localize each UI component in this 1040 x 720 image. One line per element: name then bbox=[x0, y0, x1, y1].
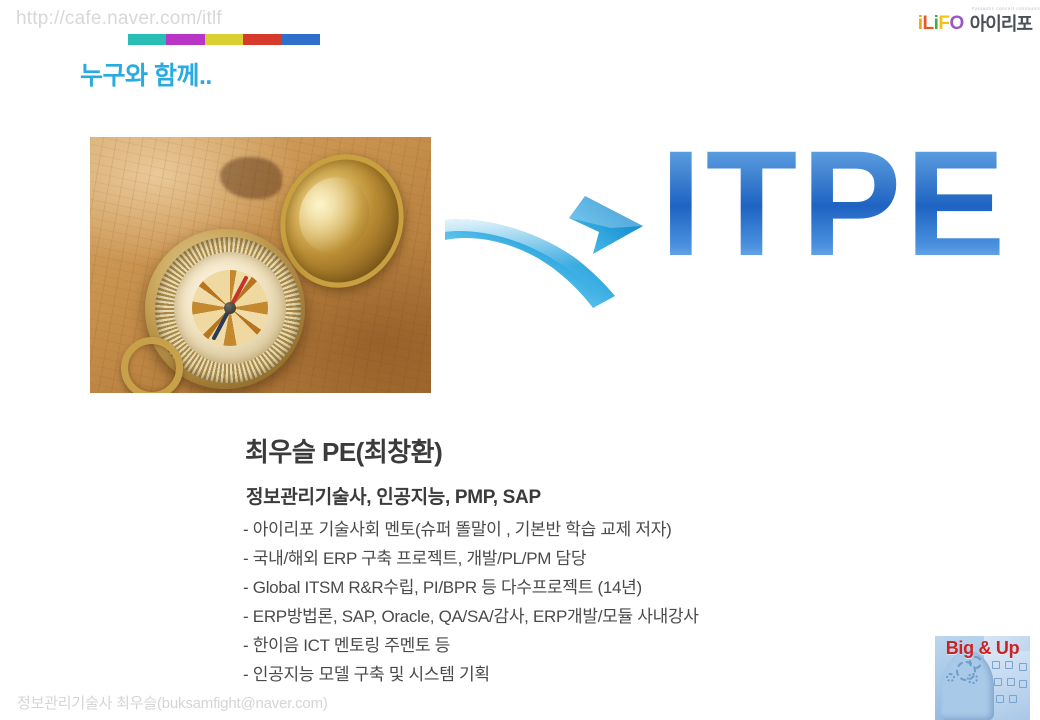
profile-certifications: 정보관리기술사, 인공지능, PMP, SAP bbox=[246, 482, 541, 509]
color-segment-purple bbox=[166, 34, 204, 45]
list-item: - Global ITSM R&R수립, PI/BPR 등 다수프로젝트 (14… bbox=[243, 579, 699, 596]
arrow-tail bbox=[445, 219, 615, 308]
profile-bullet-list: - 아이리포 기술사회 멘토(슈퍼 똘말이 , 기본반 학습 교제 저자) - … bbox=[243, 521, 699, 695]
brand-tagline: Fantastic concert communication bbox=[972, 6, 1040, 11]
compass-dial bbox=[174, 252, 286, 364]
tech-icon bbox=[1019, 680, 1027, 688]
brand-logo: iLiFO Fantastic concert communication 아이… bbox=[918, 14, 1032, 33]
list-item: - 국내/해외 ERP 구축 프로젝트, 개발/PL/PM 담당 bbox=[243, 550, 699, 567]
brand-korean-name: 아이리포 bbox=[970, 15, 1032, 33]
color-segment-blue bbox=[282, 34, 320, 45]
compass-pivot bbox=[224, 302, 236, 314]
color-segment-red bbox=[243, 34, 281, 45]
page-title: 누구와 함께.. bbox=[80, 56, 212, 92]
list-item: - 아이리포 기술사회 멘토(슈퍼 똘말이 , 기본반 학습 교제 저자) bbox=[243, 521, 699, 538]
profile-name: 최우슬 PE(최창환) bbox=[245, 432, 442, 469]
tech-icon bbox=[996, 695, 1004, 703]
brand-korean-wrap: Fantastic concert communication 아이리포 bbox=[970, 15, 1032, 33]
itpe-wordmark: ITPE bbox=[660, 128, 1009, 278]
tech-icon bbox=[992, 661, 1000, 669]
tech-icon bbox=[1019, 663, 1027, 671]
tech-icon bbox=[1005, 661, 1013, 669]
footer-contact: 정보관리기술사 최우슬(buksamfight@naver.com) bbox=[17, 692, 328, 713]
compass-photo bbox=[90, 137, 431, 393]
tech-icon bbox=[994, 678, 1002, 686]
list-item: - ERP방법론, SAP, Oracle, QA/SA/감사, ERP개발/모… bbox=[243, 608, 699, 625]
curved-arrow-icon bbox=[443, 188, 673, 318]
slide-root: http://cafe.naver.com/itlf 누구와 함께.. iLiF… bbox=[0, 0, 1040, 720]
tech-icon bbox=[1009, 695, 1017, 703]
color-segment-yellow bbox=[205, 34, 243, 45]
list-item: - 인공지능 모델 구축 및 시스템 기획 bbox=[243, 666, 699, 683]
tech-icon bbox=[1007, 678, 1015, 686]
site-url-text: http://cafe.naver.com/itlf bbox=[16, 8, 222, 30]
color-segment-teal bbox=[128, 34, 166, 45]
big-and-up-badge: Big & Up bbox=[935, 636, 1030, 720]
arrow-head-gloss bbox=[569, 196, 643, 228]
badge-label: Big & Up bbox=[935, 638, 1030, 659]
compass-ring bbox=[121, 337, 183, 393]
list-item: - 한이음 ICT 멘토링 주멘토 등 bbox=[243, 637, 699, 654]
accent-color-bar bbox=[128, 34, 320, 45]
brand-wordmark-icon: iLiFO bbox=[918, 14, 964, 33]
